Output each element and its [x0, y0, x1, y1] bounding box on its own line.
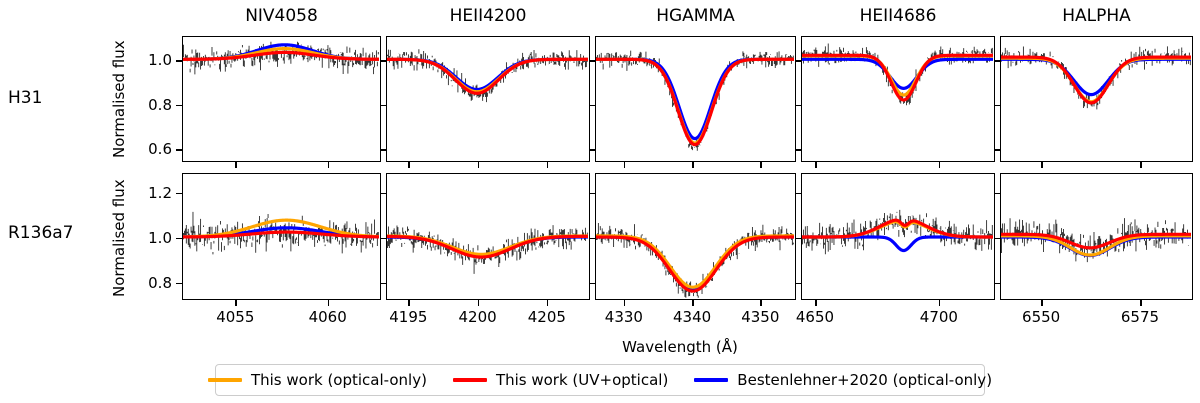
x-tick-mark [1041, 300, 1043, 306]
x-tick-mark [547, 300, 549, 306]
legend-item: Bestenlehner+2020 (optical-only) [694, 371, 992, 389]
x-tick-mark [939, 162, 941, 168]
model-curve [596, 59, 794, 144]
x-tick-label: 4195 [378, 308, 438, 326]
y-tick-label: 0.8 [120, 274, 172, 292]
row-label-r136a7: R136a7 [8, 223, 74, 243]
model-curve [802, 237, 993, 250]
model-curve [596, 59, 794, 138]
y-tick-mark [796, 283, 801, 285]
legend-swatch-bestenlehner [694, 378, 728, 382]
x-tick-mark [235, 300, 237, 306]
x-tick-label: 4330 [594, 308, 654, 326]
y-tick-mark [381, 60, 386, 62]
y-tick-mark [590, 105, 595, 107]
y-tick-label: 1.0 [120, 51, 172, 69]
model-curve [596, 59, 794, 143]
model-curve [596, 236, 794, 287]
panel-title-hgamma: HGAMMA [595, 6, 796, 26]
model-curve [802, 56, 993, 95]
y-tick-mark [381, 193, 386, 195]
spectra-figure: H31 R136a7 Normalised flux Normalised fl… [0, 0, 1200, 403]
x-tick-label: 6575 [1110, 308, 1170, 326]
x-tick-mark [408, 162, 410, 168]
model-curve [1001, 57, 1191, 103]
y-tick-mark [381, 105, 386, 107]
panel-title-heii4686: HEII4686 [801, 6, 995, 26]
legend-label: This work (UV+optical) [496, 371, 668, 389]
y-tick-mark [590, 193, 595, 195]
spectrum-panel-r136a7-heii4200 [386, 173, 590, 300]
x-tick-mark [478, 162, 480, 168]
y-tick-mark [176, 283, 182, 285]
legend-swatch-optical-only [208, 378, 242, 382]
y-tick-mark [176, 193, 182, 195]
model-curve [802, 222, 993, 237]
model-curve [596, 237, 794, 291]
y-tick-mark [176, 149, 182, 151]
x-tick-mark [408, 300, 410, 306]
spectrum-panel-h31-halpha [1000, 36, 1193, 162]
spectrum-panel-h31-hgamma [595, 36, 796, 162]
y-tick-mark [995, 60, 1000, 62]
x-tick-label: 4340 [662, 308, 722, 326]
observed-spectrum [596, 51, 793, 151]
x-tick-label: 4650 [785, 308, 845, 326]
y-tick-mark [995, 238, 1000, 240]
x-tick-label: 4200 [448, 308, 508, 326]
x-tick-mark [815, 300, 817, 306]
model-curve [596, 237, 794, 289]
y-tick-mark [590, 283, 595, 285]
model-curve [802, 55, 993, 100]
observed-spectrum [387, 49, 587, 102]
y-tick-mark [995, 193, 1000, 195]
y-tick-mark [381, 283, 386, 285]
legend-item: This work (optical-only) [208, 371, 427, 389]
y-tick-mark [796, 105, 801, 107]
y-tick-mark [176, 60, 182, 62]
x-tick-label: 4700 [909, 308, 969, 326]
y-tick-label: 0.8 [120, 96, 172, 114]
x-tick-label: 4055 [205, 308, 265, 326]
x-tick-mark [760, 162, 762, 168]
y-tick-mark [995, 149, 1000, 151]
y-tick-label: 0.6 [120, 140, 172, 158]
model-curve [1001, 58, 1191, 102]
model-curve [802, 59, 993, 88]
legend-label: This work (optical-only) [251, 371, 427, 389]
y-tick-mark [176, 238, 182, 240]
x-tick-mark [478, 300, 480, 306]
legend: This work (optical-only) This work (UV+o… [215, 364, 985, 396]
y-tick-mark [176, 105, 182, 107]
model-curve [1001, 59, 1191, 94]
spectrum-panel-h31-heii4686 [801, 36, 995, 162]
y-tick-mark [995, 105, 1000, 107]
y-tick-mark [796, 60, 801, 62]
x-tick-mark [547, 162, 549, 168]
y-tick-mark [590, 238, 595, 240]
y-tick-mark [796, 149, 801, 151]
x-tick-label: 4350 [730, 308, 790, 326]
y-tick-mark [381, 238, 386, 240]
spectrum-panel-r136a7-hgamma [595, 173, 796, 300]
y-tick-label: 1.2 [120, 184, 172, 202]
y-tick-mark [796, 238, 801, 240]
spectrum-panel-r136a7-niv4058 [182, 173, 381, 300]
panel-title-halpha: HALPHA [1000, 6, 1193, 26]
x-tick-mark [815, 162, 817, 168]
y-tick-mark [796, 193, 801, 195]
x-tick-mark [692, 162, 694, 168]
x-tick-mark [328, 162, 330, 168]
legend-item: This work (UV+optical) [453, 371, 668, 389]
y-tick-mark [381, 149, 386, 151]
x-axis-label: Wavelength (Å) [530, 338, 830, 356]
x-tick-mark [760, 300, 762, 306]
y-tick-mark [995, 283, 1000, 285]
legend-swatch-uv-optical [453, 378, 487, 382]
y-tick-mark [590, 60, 595, 62]
row-label-h31: H31 [8, 88, 42, 108]
x-tick-mark [1140, 162, 1142, 168]
observed-spectrum [387, 225, 587, 274]
legend-label: Bestenlehner+2020 (optical-only) [737, 371, 992, 389]
x-tick-mark [624, 162, 626, 168]
x-tick-label: 4060 [298, 308, 358, 326]
y-tick-mark [590, 149, 595, 151]
x-tick-mark [624, 300, 626, 306]
x-tick-label: 6550 [1011, 308, 1071, 326]
x-tick-mark [692, 300, 694, 306]
x-tick-mark [235, 162, 237, 168]
x-tick-mark [328, 300, 330, 306]
spectrum-panel-r136a7-halpha [1000, 173, 1193, 300]
panel-title-heii4200: HEII4200 [386, 6, 590, 26]
y-tick-label: 1.0 [120, 229, 172, 247]
x-tick-label: 4205 [517, 308, 577, 326]
spectrum-panel-r136a7-heii4686 [801, 173, 995, 300]
panel-title-niv4058: NIV4058 [182, 6, 381, 26]
spectrum-panel-h31-niv4058 [182, 36, 381, 162]
x-tick-mark [939, 300, 941, 306]
spectrum-panel-h31-heii4200 [386, 36, 590, 162]
x-tick-mark [1140, 300, 1142, 306]
x-tick-mark [1041, 162, 1043, 168]
